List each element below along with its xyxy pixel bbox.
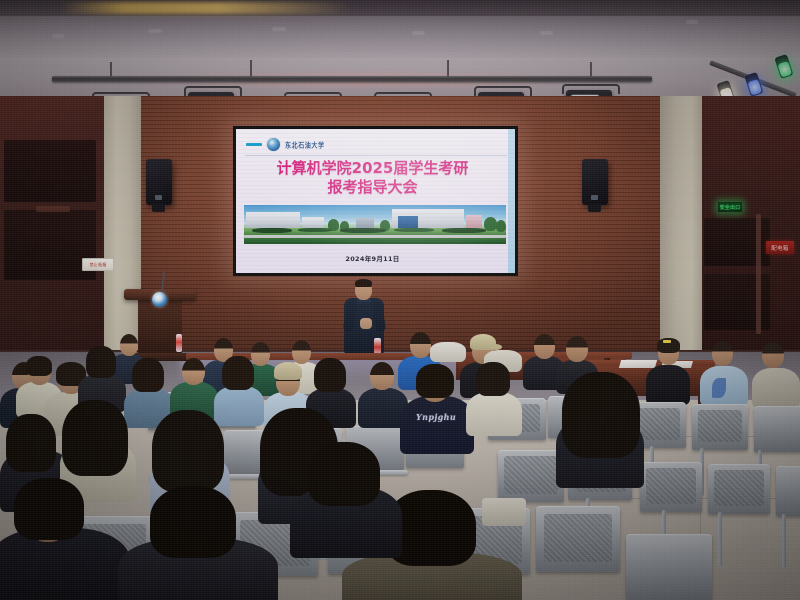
fixture-yoke	[474, 86, 532, 96]
shirt-graphic-text: Ynpjghu	[416, 412, 456, 422]
left-pillar	[104, 96, 141, 364]
exit-sign: 安全出口	[718, 202, 742, 212]
slide-accent-bar	[508, 129, 515, 273]
campus-building	[466, 215, 482, 228]
truss-hanger	[590, 62, 592, 78]
baseball-cap	[274, 362, 302, 380]
person-hair	[562, 372, 640, 458]
auditorium-seat[interactable]	[626, 534, 712, 600]
person-hair	[416, 364, 454, 398]
campus-path	[244, 235, 506, 238]
slide-title-line1: 计算机学院2025届学生考研	[277, 159, 469, 177]
seat-cushion	[698, 410, 742, 442]
person-torso	[214, 386, 264, 426]
slide-title-line2: 报考指导大会	[236, 178, 509, 197]
lighting-truss	[52, 76, 652, 82]
ceiling-tile	[686, 20, 698, 24]
person-torso	[752, 368, 800, 408]
side-light-glow	[777, 61, 792, 78]
university-emblem-icon	[267, 138, 280, 151]
door-frame	[756, 214, 761, 334]
speaker-logo	[591, 195, 598, 200]
person-hair	[476, 362, 510, 396]
person-head	[251, 342, 270, 366]
seat-leg	[782, 514, 786, 568]
auditorium-photo: 安全出口 配电箱 禁止吸烟 东北石油大学 计算机学院2025届学生考研 报考指导…	[0, 0, 800, 600]
fixture-yoke	[184, 86, 242, 96]
seat-cushion	[714, 470, 764, 506]
person-hair	[150, 486, 236, 558]
paper-on-table	[619, 360, 657, 368]
ceiling-tile	[148, 29, 162, 33]
campus-flowerbed	[340, 228, 386, 233]
person-hair	[26, 356, 52, 376]
hair-clip-icon	[663, 340, 671, 343]
projection-screen: 东北石油大学 计算机学院2025届学生考研 报考指导大会	[233, 126, 518, 276]
ceiling-tile	[272, 27, 286, 31]
ceiling-tile	[540, 31, 553, 35]
campus-building	[246, 212, 300, 228]
accent-dash	[246, 143, 262, 146]
person-head	[182, 358, 205, 385]
person-hair	[6, 414, 56, 472]
person-hair	[86, 346, 116, 378]
person-head	[566, 336, 588, 362]
truss-hanger	[447, 60, 449, 78]
university-name: 东北石油大学	[285, 139, 325, 149]
shirt-graphic	[712, 378, 726, 398]
ceiling-warm-light	[60, 2, 350, 14]
wall-speaker-right	[582, 159, 608, 205]
person-hair	[314, 358, 346, 392]
wall-plaque-sign: 禁止吸烟	[82, 258, 114, 271]
person-head	[410, 332, 431, 358]
campus-flowerbed	[394, 228, 434, 232]
campus-flowerbed	[252, 228, 292, 233]
podium-emblem-icon	[152, 292, 167, 307]
ceiling-tile	[52, 34, 64, 38]
person-hair	[132, 358, 164, 392]
bag-on-seat	[482, 498, 526, 526]
person-hair	[14, 478, 84, 540]
speaker-mount	[588, 204, 601, 212]
person-hair	[222, 356, 254, 390]
campus-building	[356, 218, 374, 228]
slide-title: 计算机学院2025届学生考研 报考指导大会	[236, 159, 509, 197]
person-head	[762, 342, 784, 368]
wall-vent	[36, 206, 70, 212]
slide-header-rule	[245, 155, 507, 156]
speaker-mount	[152, 204, 165, 212]
presenter-hair	[355, 279, 372, 287]
auditorium-seat[interactable]	[776, 466, 800, 516]
campus-photo	[244, 205, 506, 244]
slide-date: 2024年9月11日	[236, 253, 509, 263]
presentation-slide: 东北石油大学 计算机学院2025届学生考研 报考指导大会	[236, 129, 515, 273]
person-torso	[446, 424, 542, 490]
campus-flowerbed	[298, 228, 332, 232]
campus-tree	[496, 220, 506, 232]
side-light-glow	[747, 79, 762, 96]
person-head	[712, 341, 733, 366]
electrical-box-label: 配电箱	[771, 244, 788, 252]
person-head	[120, 334, 138, 356]
auditorium-seat[interactable]	[754, 406, 800, 452]
campus-building	[302, 217, 324, 228]
person-head	[370, 362, 394, 390]
truss-hanger	[250, 60, 252, 78]
wall-panel	[4, 140, 96, 202]
fixture-yoke	[562, 84, 620, 94]
wall-plaque-label: 禁止吸烟	[90, 262, 107, 268]
seat-cushion	[646, 468, 696, 504]
truss-hanger	[110, 62, 112, 78]
person-hair	[152, 410, 224, 492]
exit-sign-label: 安全出口	[720, 204, 741, 211]
person-torso	[430, 342, 466, 362]
slide-header: 东北石油大学	[246, 138, 325, 151]
presenter-hands	[360, 318, 372, 329]
person-head	[534, 334, 555, 359]
person-head	[292, 340, 311, 364]
person-torso	[646, 365, 690, 405]
electrical-box-sign: 配电箱	[766, 241, 794, 254]
seat-leg	[718, 512, 722, 566]
speaker-logo	[155, 195, 162, 200]
person-hair	[308, 442, 380, 506]
right-pillar	[660, 96, 702, 364]
wall-speaker-left	[146, 159, 172, 205]
ceiling-tile	[412, 31, 425, 35]
person-hair	[62, 400, 128, 476]
water-bottle	[176, 334, 182, 352]
campus-flowerbed	[442, 228, 486, 233]
seat-cushion	[544, 514, 612, 562]
seat-cushion	[636, 408, 680, 440]
